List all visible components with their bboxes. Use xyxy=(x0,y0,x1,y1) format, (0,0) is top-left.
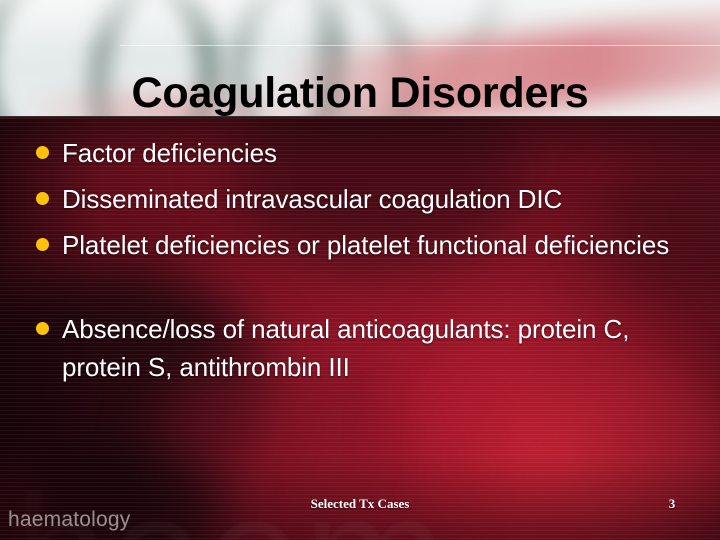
header-top-sheen xyxy=(0,0,720,48)
list-item: Platelet deficiencies or platelet functi… xyxy=(36,226,708,264)
presentation-slide: Coagulation Disorders haem Factor defici… xyxy=(0,0,720,540)
list-item: Disseminated intravascular coagulation D… xyxy=(36,180,708,218)
bullet-marker-icon xyxy=(36,146,49,159)
bullet-text: Factor deficiencies xyxy=(62,134,277,172)
list-item: Factor deficiencies xyxy=(36,134,708,172)
bullet-marker-icon xyxy=(36,238,49,251)
brand-watermark: haematology xyxy=(8,508,130,532)
slide-bullet-list: Factor deficiencies Disseminated intrava… xyxy=(0,118,720,488)
header-horizontal-seam-line xyxy=(120,45,720,46)
bullet-text: Disseminated intravascular coagulation D… xyxy=(62,180,562,218)
list-item: Absence/loss of natural anticoagulants: … xyxy=(36,310,708,386)
bullet-text: Platelet deficiencies or platelet functi… xyxy=(62,226,682,264)
slide-title: Coagulation Disorders xyxy=(0,68,720,118)
bullet-marker-icon xyxy=(36,322,49,335)
bullet-text: Absence/loss of natural anticoagulants: … xyxy=(62,310,682,386)
slide-page-number: 3 xyxy=(650,496,694,512)
bullet-marker-icon xyxy=(36,192,49,205)
